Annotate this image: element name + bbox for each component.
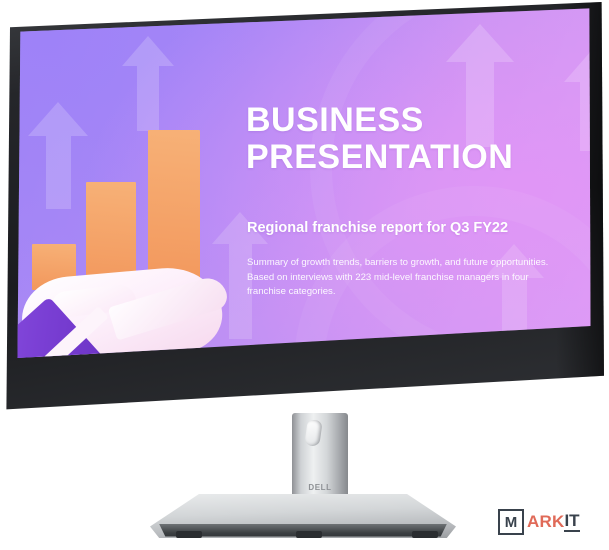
watermark-end-text: IT (564, 512, 579, 532)
stand-foot (296, 531, 322, 538)
markit-watermark-logo: M ARK IT (498, 509, 580, 535)
slide-title-line-2: PRESENTATION (246, 139, 576, 176)
slide-title: BUSINESS PRESENTATION (246, 102, 576, 177)
slide-subtitle: Regional franchise report for Q3 FY22 (247, 220, 577, 237)
stand-brand-logo: DELL (292, 483, 348, 492)
chart-bar (148, 130, 200, 290)
dell-monitor: BUSINESS PRESENTATION Regional franchise… (0, 0, 609, 550)
hand-holding-bar-chart-illustration (14, 126, 244, 386)
screenshot-root: BUSINESS PRESENTATION Regional franchise… (0, 0, 609, 550)
stand-foot (412, 531, 438, 538)
watermark-box-letter: M (498, 509, 524, 535)
monitor-panel: BUSINESS PRESENTATION Regional franchise… (4, 2, 604, 422)
slide-title-line-1: BUSINESS (246, 102, 576, 139)
slide-body-text: Summary of growth trends, barriers to gr… (247, 256, 557, 300)
watermark-mid-text: ARK (527, 512, 564, 532)
stand-foot (176, 531, 202, 538)
